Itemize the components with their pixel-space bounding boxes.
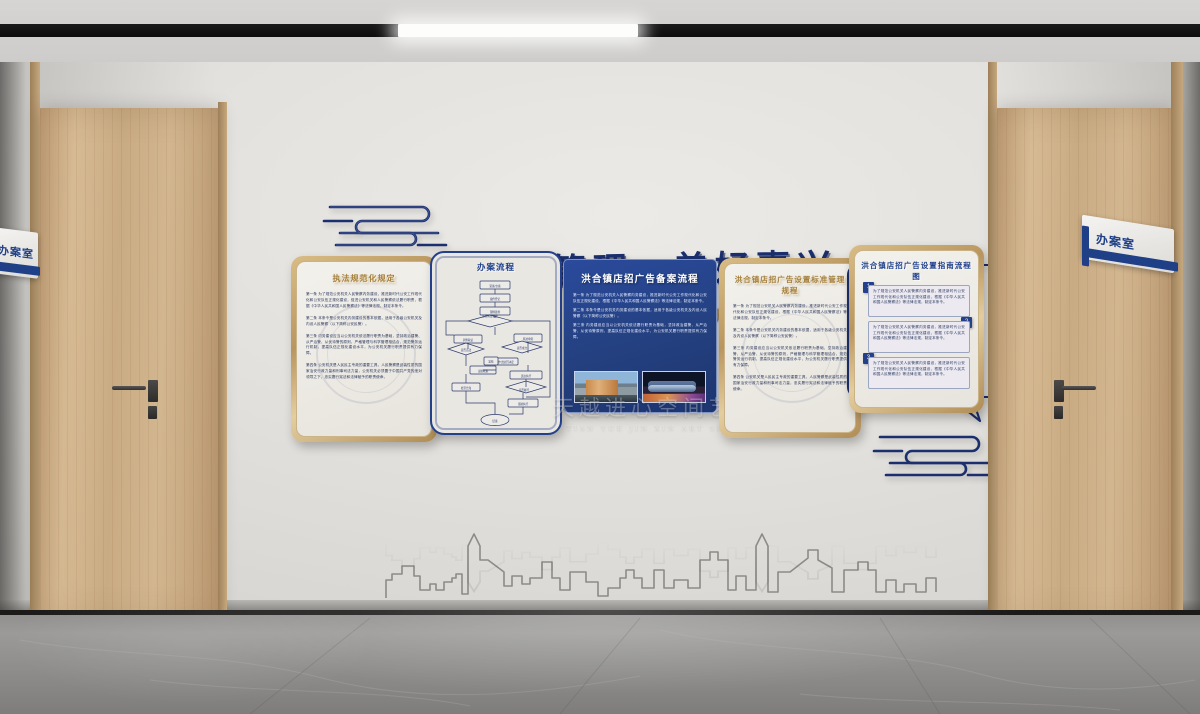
floor [0, 610, 1200, 714]
panel-ad-filing-title: 洪合镇店招广告备案流程 [570, 271, 710, 285]
handle-plate [148, 380, 158, 402]
svg-text:处罚告知: 处罚告知 [461, 386, 472, 390]
photo-streetscape[interactable] [642, 371, 706, 403]
photo-building[interactable] [574, 371, 638, 403]
svg-text:是否违法: 是否违法 [461, 348, 472, 352]
svg-text:证据收集: 证据收集 [478, 369, 489, 373]
door-left-jamb-right [218, 102, 227, 624]
svg-text:案件登记: 案件登记 [490, 297, 501, 301]
door-woodgrain [40, 108, 220, 622]
door-right-jamb-left [988, 62, 997, 610]
room-scene: 城市管理美好嘉兴 用五心服务 铸美城市管理 执法规范化规定 [0, 0, 1200, 714]
floor-veining [0, 610, 1200, 714]
svg-text:送达执行: 送达执行 [521, 374, 532, 378]
numbered-item[interactable]: 为了规范公安机关人民警察内务建设，推进新时代公安工作现代化和公安队伍正规化建设，… [868, 285, 970, 317]
numbered-item-text: 为了规范公安机关人民警察内务建设，推进新时代公安工作现代化和公安队伍正规化建设，… [873, 289, 965, 306]
door-right-jamb [1171, 62, 1183, 622]
ceiling-led-light [398, 24, 638, 37]
door-left-jamb [30, 62, 40, 610]
panel-watermark-seal [316, 304, 416, 404]
svg-text:作出处罚决定: 作出处罚决定 [498, 360, 514, 364]
panel-ad-filing-para: 第二条 本条令是公安机关内务建设的基本依据，适用于各级公安机关及内设人民警察（以… [573, 308, 707, 320]
svg-text:复核: 复核 [488, 360, 494, 364]
panel-ad-filing-para: 第三条 内务建设应当以公安机关依法履行职责为基础，坚持政治建警、从严治警、从优待… [573, 323, 707, 340]
svg-text:结案: 结案 [492, 419, 498, 423]
case-flow-diagram: 受案/立案 案件登记 现场勘查 是否需要鉴定 调查取证 是否违法 证据收集 处罚… [432, 277, 560, 432]
panel-regulations-title: 执法规范化规定 [305, 273, 423, 284]
panel-case-flow[interactable]: 办案流程 [430, 251, 562, 435]
panel-ad-filing[interactable]: 洪合镇店招广告备案流程 第一条 为了规范公安机关人民警察内务建设，推进新时代公安… [563, 259, 717, 413]
svg-text:强制执行: 强制执行 [518, 402, 529, 406]
cloud-motif-right [866, 427, 996, 483]
svg-text:现场勘查: 现场勘查 [490, 310, 501, 314]
panel-case-flow-title: 办案流程 [432, 261, 560, 273]
svg-text:调查取证: 调查取证 [463, 338, 474, 342]
door-left[interactable] [40, 108, 220, 622]
panel-numbered-guide[interactable]: 洪合镇店招广告设置指南流程图 1 为了规范公安机关人民警察内务建设，推进新时代公… [849, 245, 984, 413]
numbered-item[interactable]: 为了规范公安机关人民警察内务建设，推进新时代公安工作现代化和公安队伍正规化建设，… [868, 357, 970, 389]
numbered-item-text: 为了规范公安机关人民警察内务建设，推进新时代公安工作现代化和公安队伍正规化建设，… [873, 361, 965, 378]
panel-ad-filing-para: 第一条 为了规范公安机关人民警察内务建设，推进新时代公安工作现代化和公安队伍正规… [573, 293, 707, 305]
svg-text:是否履行: 是否履行 [519, 388, 530, 392]
panel-storefront-standard[interactable]: 洪合镇店招广告设置标准管理规程 第一条 为了规范公安机关人民警察内务建设，推进新… [719, 258, 861, 438]
svg-text:是否成立: 是否成立 [517, 346, 528, 350]
door-right[interactable] [997, 108, 1173, 622]
ceiling [0, 0, 1200, 64]
svg-text:受案/立案: 受案/立案 [489, 284, 501, 288]
svg-text:陈述申辩: 陈述申辩 [523, 337, 534, 341]
handle-lever-icon [112, 386, 146, 390]
panel-numbered-guide-title: 洪合镇店招广告设置指南流程图 [861, 260, 972, 282]
panel-watermark-seal [742, 303, 842, 403]
door-lock-icon [1054, 406, 1063, 419]
svg-text:是否需要鉴定: 是否需要鉴定 [482, 314, 498, 318]
numbered-item-text: 为了规范公安机关人民警察内务建设，推进新时代公安工作现代化和公安队伍正规化建设，… [873, 325, 965, 342]
cloud-motif-left [318, 195, 448, 255]
door-lock-icon [148, 406, 157, 419]
panel-regulations[interactable]: 执法规范化规定 第一条 为了规范公安机关人民警察内务建设，推进新时代公安工作现代… [291, 256, 437, 442]
door-woodgrain [997, 108, 1173, 622]
panel-storefront-standard-title: 洪合镇店招广告设置标准管理规程 [731, 274, 849, 296]
handle-plate [1054, 380, 1064, 402]
numbered-item[interactable]: 为了规范公安机关人民警察内务建设，推进新时代公安工作现代化和公安队伍正规化建设，… [868, 321, 970, 353]
handle-lever-icon [1062, 386, 1096, 390]
sign-side-bar [1082, 225, 1089, 266]
